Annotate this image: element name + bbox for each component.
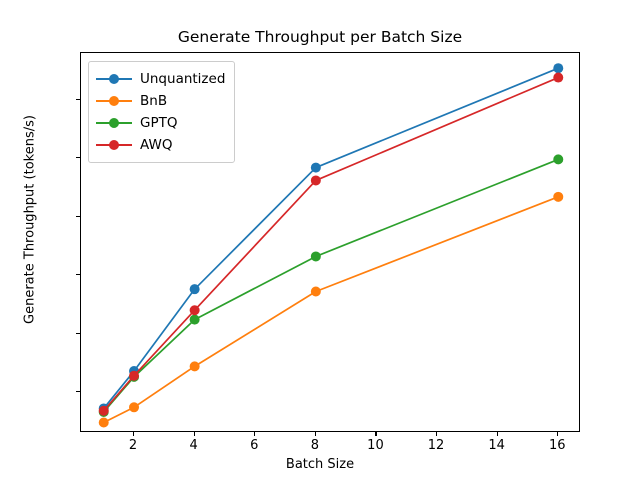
legend-marker-icon (96, 94, 132, 108)
x-tick-label: 6 (250, 438, 258, 453)
x-tick-label: 12 (428, 438, 445, 453)
data-point-marker (311, 175, 321, 185)
legend-item[interactable]: AWQ (96, 134, 225, 156)
data-point-marker (190, 315, 200, 325)
chart-figure: Generate Throughput per Batch Size Gener… (0, 0, 640, 480)
legend-item[interactable]: GPTQ (96, 112, 225, 134)
data-point-marker (553, 63, 563, 73)
x-tick-label: 4 (189, 438, 197, 453)
data-point-marker (190, 305, 200, 315)
data-point-marker (129, 402, 139, 412)
series-line (104, 197, 559, 423)
data-point-marker (190, 361, 200, 371)
legend-item-label: BnB (140, 93, 167, 109)
data-point-marker (553, 154, 563, 164)
legend-marker-icon (96, 116, 132, 130)
data-point-marker (311, 163, 321, 173)
legend-item[interactable]: Unquantized (96, 68, 225, 90)
x-tick-label: 8 (311, 438, 319, 453)
data-point-marker (99, 417, 109, 427)
legend-marker-icon (96, 138, 132, 152)
legend-item-label: AWQ (140, 137, 172, 153)
chart-legend: UnquantizedBnBGPTQAWQ (88, 61, 235, 163)
x-tick-label: 10 (367, 438, 384, 453)
x-tick-label: 14 (488, 438, 505, 453)
data-point-marker (99, 406, 109, 416)
legend-item[interactable]: BnB (96, 90, 225, 112)
data-point-marker (311, 251, 321, 261)
data-point-marker (311, 287, 321, 297)
data-point-marker (190, 284, 200, 294)
data-point-marker (553, 73, 563, 83)
data-point-marker (553, 192, 563, 202)
x-tick-label: 16 (549, 438, 566, 453)
x-tick-label: 2 (129, 438, 137, 453)
data-point-marker (129, 371, 139, 381)
legend-item-label: GPTQ (140, 115, 177, 131)
legend-marker-icon (96, 72, 132, 86)
chart-title: Generate Throughput per Batch Size (0, 28, 640, 46)
series-bnb (99, 192, 564, 428)
y-axis-label: Generate Throughput (tokens/s) (23, 70, 38, 370)
legend-item-label: Unquantized (140, 71, 225, 87)
x-axis-label: Batch Size (0, 457, 640, 472)
